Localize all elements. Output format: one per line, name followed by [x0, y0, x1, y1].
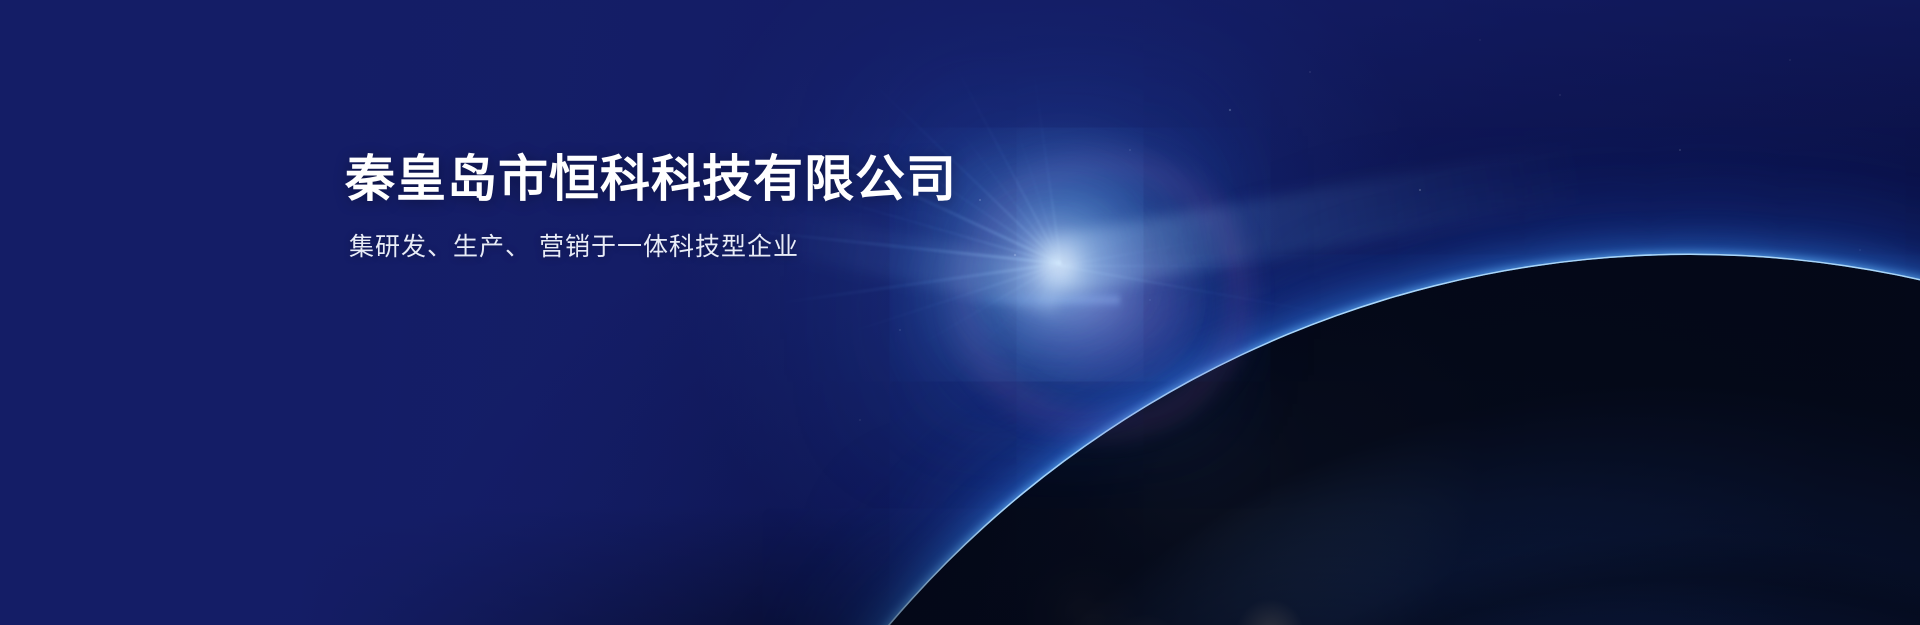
company-tagline: 集研发、生产、 营销于一体科技型企业: [349, 231, 957, 264]
banner-copy: 秦皇岛市恒科科技有限公司 集研发、生产、 营销于一体科技型企业: [345, 150, 957, 264]
hero-banner: 秦皇岛市恒科科技有限公司 集研发、生产、 营销于一体科技型企业: [0, 0, 1920, 625]
company-name-headline: 秦皇岛市恒科科技有限公司: [345, 150, 957, 209]
